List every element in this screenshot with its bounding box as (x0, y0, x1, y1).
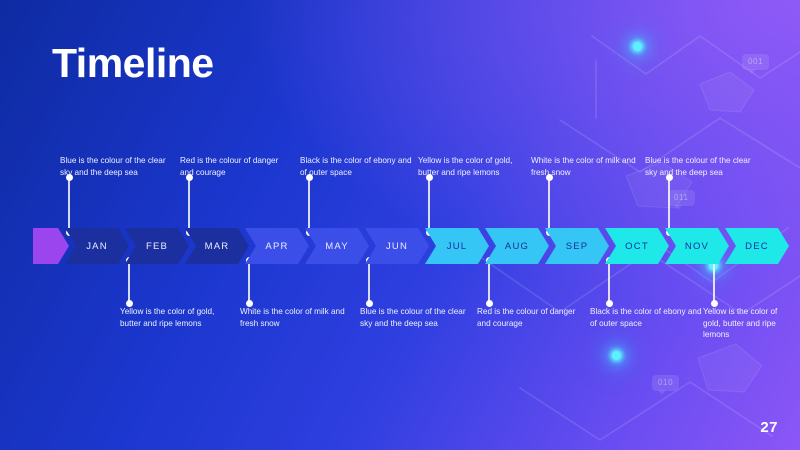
timeline-segment-label: JAN (86, 241, 108, 252)
timeline-segment-apr[interactable]: APR (245, 228, 309, 264)
timeline-segment-label: NOV (685, 241, 709, 252)
callout-caption-jun: Blue is the colour of the clear sky and … (360, 306, 472, 329)
timeline-segment-may[interactable]: MAY (305, 228, 369, 264)
timeline-segment-label: AUG (505, 241, 529, 252)
callout-connector-line (68, 177, 70, 232)
glow-dot-icon (633, 42, 642, 51)
timeline-segment-label: FEB (146, 241, 168, 252)
callout-caption-aug: Red is the colour of danger and courage (477, 306, 589, 329)
timeline-segment-label: JUL (447, 241, 468, 252)
decor-badge: 010 (652, 375, 679, 391)
callout-connector-line (308, 177, 310, 232)
slide-canvas: 001 011 010 Timeline Blue is the colour … (0, 0, 800, 450)
timeline-segment-jul[interactable]: JUL (425, 228, 489, 264)
page-title: Timeline (52, 43, 214, 84)
callout-connector-line (548, 177, 550, 232)
callout-caption-feb: Yellow is the color of gold, butter and … (120, 306, 232, 329)
timeline-segment-sep[interactable]: SEP (545, 228, 609, 264)
timeline-segment-cap-start[interactable] (33, 228, 69, 264)
timeline-segment-mar[interactable]: MAR (185, 228, 249, 264)
timeline-segment-jun[interactable]: JUN (365, 228, 429, 264)
callout-caption-jul: Yellow is the color of gold, butter and … (418, 155, 530, 178)
timeline-segment-jan[interactable]: JAN (65, 228, 129, 264)
timeline-segment-label: OCT (625, 241, 649, 252)
timeline-bar: JANFEBMARAPRMAYJUNJULAUGSEPOCTNOVDEC (33, 228, 773, 264)
timeline-segment-label: JUN (386, 241, 408, 252)
decor-badge: 011 (668, 190, 695, 206)
callout-caption-nov: Blue is the colour of the clear sky and … (645, 155, 759, 178)
callout-connector-line (668, 177, 670, 232)
timeline-segment-oct[interactable]: OCT (605, 228, 669, 264)
callout-connector-line (713, 260, 715, 303)
callout-caption-apr: White is the color of milk and fresh sno… (240, 306, 350, 329)
glow-dot-icon (612, 351, 621, 360)
callout-caption-oct: Black is the color of ebony and of outer… (590, 306, 702, 329)
callout-caption-may: Black is the color of ebony and of outer… (300, 155, 412, 178)
callout-caption-jan: Blue is the colour of the clear sky and … (60, 155, 170, 178)
callout-connector-line (428, 177, 430, 232)
timeline-segment-label: MAR (205, 241, 230, 252)
callout-connector-line (188, 177, 190, 232)
callout-connector-line (608, 260, 610, 303)
callout-caption-mar: Red is the colour of danger and courage (180, 155, 292, 178)
timeline-segment-label: APR (265, 241, 288, 252)
timeline-segment-feb[interactable]: FEB (125, 228, 189, 264)
timeline-segment-dec[interactable]: DEC (725, 228, 789, 264)
timeline-segment-label: DEC (745, 241, 769, 252)
callout-connector-line (368, 260, 370, 303)
callout-connector-line (128, 260, 130, 303)
callout-caption-sep: White is the color of milk and fresh sno… (531, 155, 643, 178)
timeline-segment-label: MAY (325, 241, 348, 252)
decor-badge: 001 (742, 54, 769, 70)
timeline-segment-label: SEP (566, 241, 589, 252)
callout-caption-dec: Yellow is the color of gold, butter and … (703, 306, 793, 341)
timeline-segment-aug[interactable]: AUG (485, 228, 549, 264)
page-number: 27 (760, 419, 778, 436)
timeline-segment-nov[interactable]: NOV (665, 228, 729, 264)
callout-connector-line (248, 260, 250, 303)
callout-connector-line (488, 260, 490, 303)
